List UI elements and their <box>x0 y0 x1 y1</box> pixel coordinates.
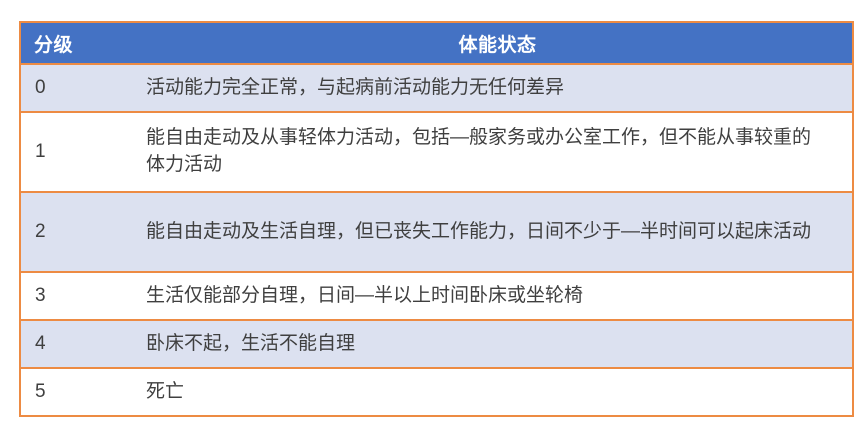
cell-status-text: 生活仅能部分自理，日间—半以上时间卧床或坐轮椅 <box>146 283 826 310</box>
column-header-grade: 分级 <box>20 22 143 64</box>
cell-status-text: 活动能力完全正常，与起病前活动能力无任何差异 <box>146 75 826 102</box>
cell-grade: 3 <box>20 272 143 320</box>
cell-grade: 1 <box>20 112 143 192</box>
table-row: 3 生活仅能部分自理，日间—半以上时间卧床或坐轮椅 <box>20 272 853 320</box>
table-row: 1 能自由走动及从事轻体力活动，包括—般家务或办公室工作，但不能从事较重的体力活… <box>20 112 853 192</box>
cell-status: 活动能力完全正常，与起病前活动能力无任何差异 <box>143 64 853 112</box>
cell-status-text: 能自由走动及生活自理，但已丧失工作能力，日间不少于—半时间可以起床活动 <box>146 219 826 246</box>
cell-status: 能自由走动及从事轻体力活动，包括—般家务或办公室工作，但不能从事较重的体力活动 <box>143 112 853 192</box>
cell-status-text: 死亡 <box>146 379 826 406</box>
table-row: 5 死亡 <box>20 368 853 416</box>
cell-status: 能自由走动及生活自理，但已丧失工作能力，日间不少于—半时间可以起床活动 <box>143 192 853 272</box>
cell-status-text: 卧床不起，生活不能自理 <box>146 331 826 358</box>
cell-status: 卧床不起，生活不能自理 <box>143 320 853 368</box>
cell-status: 死亡 <box>143 368 853 416</box>
table-body: 0 活动能力完全正常，与起病前活动能力无任何差异 1 能自由走动及从事轻体力活动… <box>20 64 853 416</box>
table-row: 2 能自由走动及生活自理，但已丧失工作能力，日间不少于—半时间可以起床活动 <box>20 192 853 272</box>
table-header-row: 分级 体能状态 <box>20 22 853 64</box>
cell-grade: 4 <box>20 320 143 368</box>
cell-grade: 0 <box>20 64 143 112</box>
table-header: 分级 体能状态 <box>20 22 853 64</box>
table-row: 4 卧床不起，生活不能自理 <box>20 320 853 368</box>
cell-grade: 2 <box>20 192 143 272</box>
table-row: 0 活动能力完全正常，与起病前活动能力无任何差异 <box>20 64 853 112</box>
page-root: 分级 体能状态 0 活动能力完全正常，与起病前活动能力无任何差异 1 能自由走动… <box>0 0 867 438</box>
cell-grade: 5 <box>20 368 143 416</box>
cell-status-text: 能自由走动及从事轻体力活动，包括—般家务或办公室工作，但不能从事较重的体力活动 <box>146 125 826 179</box>
performance-status-table: 分级 体能状态 0 活动能力完全正常，与起病前活动能力无任何差异 1 能自由走动… <box>19 21 854 417</box>
column-header-status: 体能状态 <box>143 22 853 64</box>
cell-status: 生活仅能部分自理，日间—半以上时间卧床或坐轮椅 <box>143 272 853 320</box>
